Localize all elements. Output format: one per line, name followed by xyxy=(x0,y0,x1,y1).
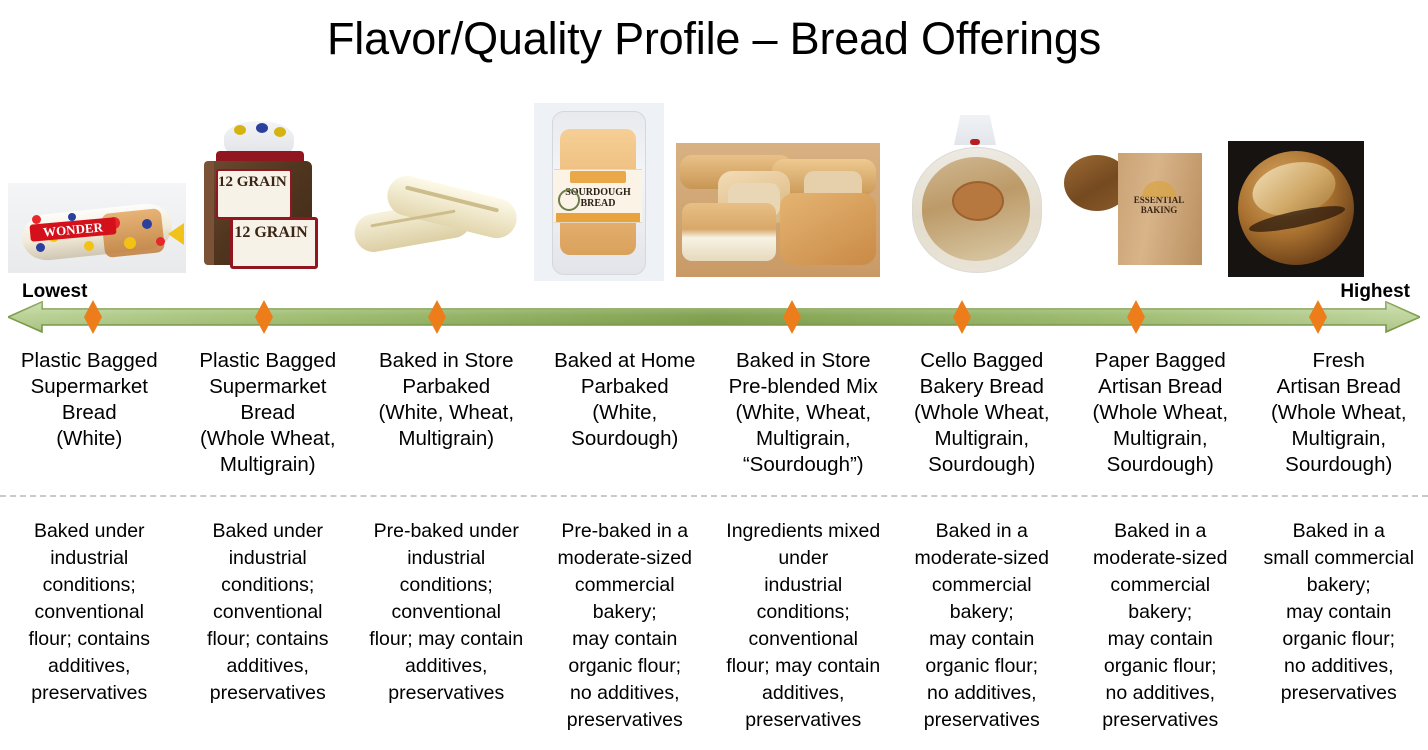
image-essential-baking-sourdough-package: SOURDOUGH BREAD xyxy=(534,103,664,281)
image-ciabatta-loaves-on-board xyxy=(676,143,880,277)
quality-scale-arrow xyxy=(8,300,1420,334)
offering-description-7: Baked in amoderate-sizedcommercialbakery… xyxy=(1071,518,1250,748)
offering-description-2: Baked underindustrialconditions;conventi… xyxy=(179,518,358,748)
scale-marker-5 xyxy=(953,300,971,334)
offering-description-8: Baked in asmall commercialbakery;may con… xyxy=(1250,518,1428,748)
offering-title-3: Baked in StoreParbaked(White, Wheat,Mult… xyxy=(357,348,536,498)
offering-description-4: Pre-baked in amoderate-sizedcommercialba… xyxy=(536,518,715,748)
offering-title-7: Paper BaggedArtisan Bread(Whole Wheat,Mu… xyxy=(1071,348,1250,498)
offering-title-8: FreshArtisan Bread(Whole Wheat,Multigrai… xyxy=(1250,348,1428,498)
offering-title-5: Baked in StorePre-blended Mix(White, Whe… xyxy=(714,348,893,498)
offering-description-3: Pre-baked underindustrialconditions;conv… xyxy=(357,518,536,748)
offering-description-5: Ingredients mixedunderindustrialconditio… xyxy=(714,518,893,748)
section-divider xyxy=(0,495,1428,497)
offering-description-1: Baked underindustrialconditions;conventi… xyxy=(0,518,179,748)
franz-12-grain-label-bottom: 12 GRAIN xyxy=(232,225,310,241)
offering-title-2: Plastic BaggedSupermarketBread(Whole Whe… xyxy=(179,348,358,498)
image-wonder-bread-plastic-bag: WONDER xyxy=(8,183,191,273)
offering-description-row: Baked underindustrialconditions;conventi… xyxy=(0,518,1428,748)
offering-title-1: Plastic BaggedSupermarketBread(White) xyxy=(0,348,179,498)
scale-marker-7 xyxy=(1309,300,1327,334)
scale-marker-6 xyxy=(1127,300,1145,334)
offering-title-4: Baked at HomeParbaked(White,Sourdough) xyxy=(536,348,715,498)
scale-marker-1 xyxy=(84,300,102,334)
scale-marker-2 xyxy=(255,300,273,334)
page-title: Flavor/Quality Profile – Bread Offerings xyxy=(0,8,1428,70)
scale-marker-4 xyxy=(783,300,801,334)
offering-title-row: Plastic BaggedSupermarketBread(White) Pl… xyxy=(0,348,1428,498)
scale-marker-3 xyxy=(428,300,446,334)
image-franz-12-grain-loaf: 12 GRAIN 12 GRAIN xyxy=(186,117,334,277)
franz-12-grain-label-top: 12 GRAIN xyxy=(218,175,286,190)
essential-baking-bag-label: ESSENTIAL BAKING xyxy=(1122,195,1196,215)
image-fresh-artisan-boule xyxy=(1228,141,1364,277)
bread-image-strip: WONDER 12 GRAIN 12 GRAIN SOURDOUGH BREAD xyxy=(0,95,1428,285)
image-parbaked-baguettes xyxy=(344,145,526,275)
image-paper-bagged-artisan-loaf: ESSENTIAL BAKING xyxy=(1060,141,1218,277)
offering-title-6: Cello BaggedBakery Bread(Whole Wheat,Mul… xyxy=(893,348,1072,498)
offering-description-6: Baked in amoderate-sizedcommercialbakery… xyxy=(893,518,1072,748)
image-cello-bagged-round-loaf xyxy=(902,113,1050,279)
